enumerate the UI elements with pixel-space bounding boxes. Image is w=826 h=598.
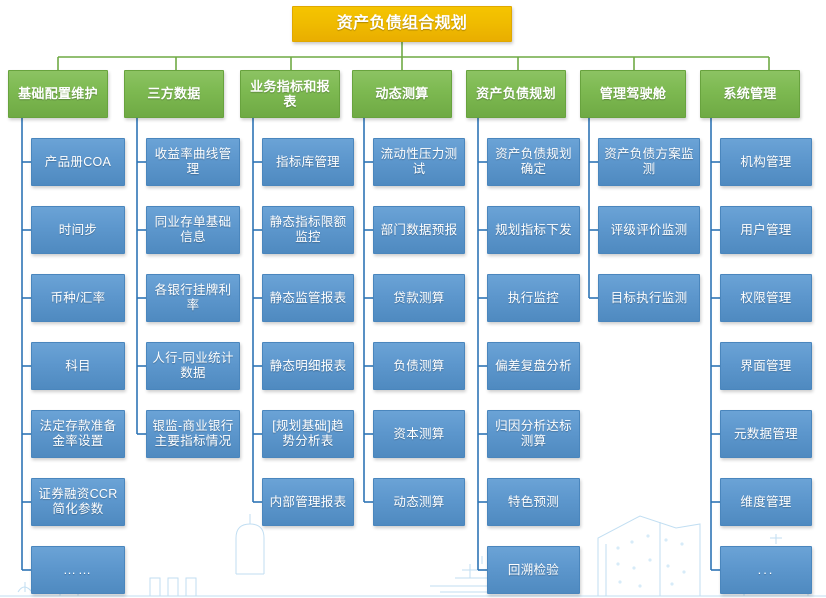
leaf-node[interactable]: 评级评价监测 [598,206,700,254]
leaf-node[interactable]: 规划指标下发 [487,206,580,254]
leaf-node[interactable]: 各银行挂牌利率 [146,274,240,322]
leaf-node[interactable]: 证券融资CCR简化参数 [31,478,125,526]
column-header-6[interactable]: 管理驾驶舱 [580,70,686,118]
leaf-node[interactable]: 贷款测算 [373,274,465,322]
leaf-node[interactable]: 回溯检验 [487,546,580,594]
leaf-node[interactable]: 静态指标限额监控 [262,206,354,254]
leaf-node[interactable]: 时间步 [31,206,125,254]
leaf-node[interactable]: 指标库管理 [262,138,354,186]
leaf-node[interactable]: 资产负债规划确定 [487,138,580,186]
leaf-node[interactable]: 元数据管理 [720,410,812,458]
column-header-5[interactable]: 资产负债规划 [466,70,566,118]
column-header-2[interactable]: 三方数据 [124,70,224,118]
leaf-node[interactable]: 资本测算 [373,410,465,458]
column-header-7[interactable]: 系统管理 [700,70,800,118]
leaf-node[interactable]: 偏差复盘分析 [487,342,580,390]
leaf-node[interactable]: 特色预测 [487,478,580,526]
column-header-1[interactable]: 基础配置维护 [8,70,108,118]
leaf-node[interactable]: 权限管理 [720,274,812,322]
leaf-node[interactable]: [规划基础]趋势分析表 [262,410,354,458]
org-chart-canvas: 资产负债组合规划 基础配置维护 三方数据 业务指标和报表 动态测算 资产负债规划… [0,0,826,598]
leaf-node[interactable]: 币种/汇率 [31,274,125,322]
leaf-node[interactable]: 内部管理报表 [262,478,354,526]
leaf-node[interactable]: 负债测算 [373,342,465,390]
leaf-node[interactable]: 动态测算 [373,478,465,526]
column-header-3[interactable]: 业务指标和报表 [240,70,340,118]
leaf-node[interactable]: 静态监管报表 [262,274,354,322]
leaf-node[interactable]: 静态明细报表 [262,342,354,390]
leaf-node[interactable]: 部门数据预报 [373,206,465,254]
leaf-node[interactable]: 产品册COA [31,138,125,186]
leaf-node[interactable]: 执行监控 [487,274,580,322]
leaf-node[interactable]: 用户管理 [720,206,812,254]
leaf-node[interactable]: 流动性压力测试 [373,138,465,186]
leaf-node-ellipsis[interactable]: …… [31,546,125,594]
leaf-node[interactable]: 界面管理 [720,342,812,390]
leaf-node-ellipsis[interactable]: ... [720,546,812,594]
leaf-node[interactable]: 维度管理 [720,478,812,526]
leaf-node[interactable]: 收益率曲线管理 [146,138,240,186]
leaf-node[interactable]: 法定存款准备金率设置 [31,410,125,458]
leaf-node[interactable]: 银监-商业银行主要指标情况 [146,410,240,458]
root-node-title[interactable]: 资产负债组合规划 [292,6,512,42]
leaf-node[interactable]: 同业存单基础信息 [146,206,240,254]
leaf-node[interactable]: 资产负债方案监测 [598,138,700,186]
column-header-4[interactable]: 动态测算 [352,70,452,118]
leaf-node[interactable]: 归因分析达标测算 [487,410,580,458]
leaf-node[interactable]: 科目 [31,342,125,390]
leaf-node[interactable]: 目标执行监测 [598,274,700,322]
leaf-node[interactable]: 人行-同业统计数据 [146,342,240,390]
leaf-node[interactable]: 机构管理 [720,138,812,186]
